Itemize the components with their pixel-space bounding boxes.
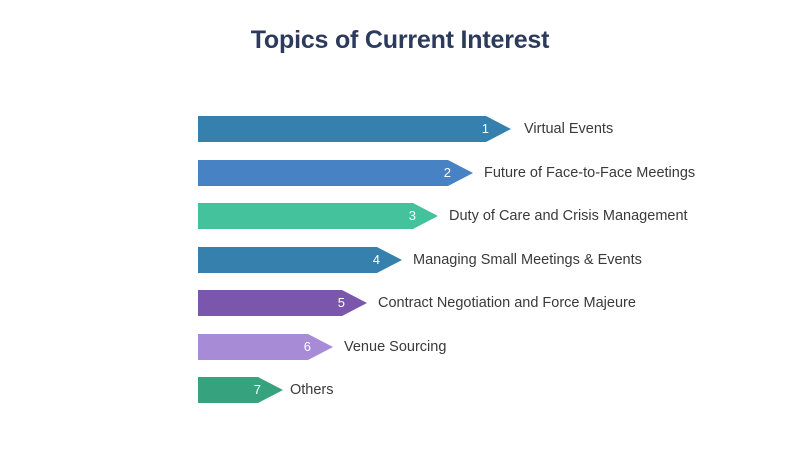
arrow-bar-2[interactable]: 2 xyxy=(198,160,473,186)
arrow-rank-number: 6 xyxy=(304,334,311,360)
arrow-label-1: Virtual Events xyxy=(524,116,613,142)
chart-row: 2 Future of Face-to-Face Meetings xyxy=(0,154,800,198)
ranked-arrow-chart: 1 Virtual Events 2 Future of Face-to-Fac… xyxy=(0,110,800,415)
page-title: Topics of Current Interest xyxy=(0,26,800,55)
arrow-label-4: Managing Small Meetings & Events xyxy=(413,247,642,273)
arrow-shape-icon xyxy=(198,160,473,186)
chart-row: 6 Venue Sourcing xyxy=(0,328,800,372)
chart-row: 3 Duty of Care and Crisis Management xyxy=(0,197,800,241)
arrow-bar-6[interactable]: 6 xyxy=(198,334,333,360)
chart-row: 1 Virtual Events xyxy=(0,110,800,154)
arrow-bar-4[interactable]: 4 xyxy=(198,247,402,273)
slide-canvas: Topics of Current Interest 1 Virtual Eve… xyxy=(0,0,800,450)
arrow-rank-number: 7 xyxy=(254,377,261,403)
arrow-shape-icon xyxy=(198,203,438,229)
arrow-shape-icon xyxy=(198,377,283,403)
arrow-bar-5[interactable]: 5 xyxy=(198,290,367,316)
arrow-label-7: Others xyxy=(290,377,334,403)
arrow-shape-icon xyxy=(198,116,511,142)
arrow-shape-icon xyxy=(198,247,402,273)
arrow-rank-number: 1 xyxy=(482,116,489,142)
arrow-bar-1[interactable]: 1 xyxy=(198,116,511,142)
arrow-shape-icon xyxy=(198,334,333,360)
chart-row: 4 Managing Small Meetings & Events xyxy=(0,241,800,285)
arrow-label-6: Venue Sourcing xyxy=(344,334,446,360)
arrow-label-2: Future of Face-to-Face Meetings xyxy=(484,160,695,186)
chart-row: 7 Others xyxy=(0,371,800,415)
arrow-bar-7[interactable]: 7 xyxy=(198,377,283,403)
arrow-rank-number: 5 xyxy=(338,290,345,316)
arrow-rank-number: 3 xyxy=(409,203,416,229)
arrow-label-5: Contract Negotiation and Force Majeure xyxy=(378,290,636,316)
arrow-label-3: Duty of Care and Crisis Management xyxy=(449,203,688,229)
arrow-rank-number: 4 xyxy=(373,247,380,273)
arrow-bar-3[interactable]: 3 xyxy=(198,203,438,229)
arrow-rank-number: 2 xyxy=(444,160,451,186)
chart-row: 5 Contract Negotiation and Force Majeure xyxy=(0,284,800,328)
